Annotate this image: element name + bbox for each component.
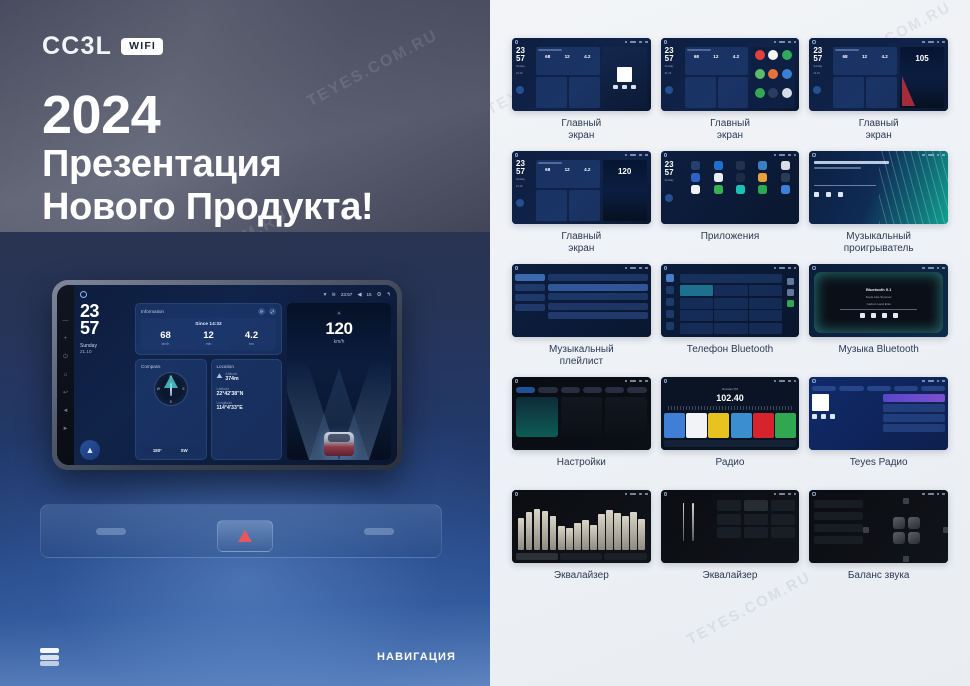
gallery-item[interactable]: Музыкальныйпроигрыватель xyxy=(809,151,948,255)
thumbnail-equalizer-alt[interactable] xyxy=(661,490,800,563)
head-unit-screen[interactable]: ▾ ≋ 23:57 ◀ 15 ⚙ ↰ 23 xyxy=(74,285,397,465)
gallery-caption: Радио xyxy=(716,457,745,481)
hw-home-icon[interactable]: ⌂ xyxy=(62,372,69,379)
headline-line-2: Нового Продукта! xyxy=(42,186,373,229)
compass-dial: N S E W xyxy=(154,372,188,406)
headline-year: 2024 xyxy=(42,88,373,143)
vent-knob-left xyxy=(96,528,126,535)
gallery-caption: Teyes Радио xyxy=(850,457,908,481)
gallery-item[interactable]: Эквалайзер xyxy=(512,490,651,594)
back-icon[interactable]: ↰ xyxy=(386,292,391,298)
speed-widget[interactable]: ☀ 120 km/h xyxy=(287,303,391,460)
expand-icon[interactable]: ⤢ xyxy=(269,308,276,315)
compass-south: S xyxy=(170,400,172,404)
clock-weekday: Sunday xyxy=(80,343,130,350)
compass-direction: SW xyxy=(171,448,198,453)
hero-footer: НАВИГАЦИЯ xyxy=(0,628,490,686)
compass-heading: 180° xyxy=(144,448,171,453)
bt-track-artist: Carbon Land Ents xyxy=(867,302,891,306)
next-icon[interactable] xyxy=(893,313,898,318)
refresh-icon[interactable]: ⟳ xyxy=(258,308,265,315)
status-time: 23:57 xyxy=(341,292,353,297)
thumbnail-home-road-alt[interactable]: 2357Sunday21.10 68124.2 120 xyxy=(512,151,651,224)
car-interior-photo: — + ⏻ ⌂ ↩ ◄ ► ▾ ≋ xyxy=(0,232,490,686)
hazard-button[interactable] xyxy=(217,520,273,552)
road-visualization xyxy=(287,350,391,460)
screenshot-gallery: TEYES.COM.RU TEYES.COM.RU TEYES.COM.RU 2… xyxy=(490,0,970,686)
gear-icon[interactable]: ⚙ xyxy=(377,292,382,298)
thumbnail-radio[interactable]: Russian FM 102.40 xyxy=(661,377,800,450)
hw-minus-icon[interactable]: — xyxy=(62,318,69,325)
gallery-item[interactable]: Teyes Радио xyxy=(809,377,948,481)
hardware-button-rail[interactable]: — + ⏻ ⌂ ↩ ◄ ► xyxy=(57,285,74,465)
hw-power-icon[interactable]: ⏻ xyxy=(62,354,69,361)
location-widget[interactable]: Location ⛰ Altitude 374m xyxy=(211,359,283,460)
vent-knob-right xyxy=(364,528,394,535)
gallery-item[interactable]: Russian FM 102.40 Радио xyxy=(661,377,800,481)
gallery-caption: Настройки xyxy=(557,457,606,481)
compass-title: Compass xyxy=(141,364,201,369)
information-widget[interactable]: Information ⟳ ⤢ Since 14:32 xyxy=(135,303,282,355)
gallery-item[interactable]: Музыкальныйплейлист xyxy=(512,264,651,368)
headlight-icon: ☀ xyxy=(337,311,341,317)
gallery-caption: Эквалайзер xyxy=(554,570,609,594)
altitude-value: 374m xyxy=(225,376,238,383)
status-volume: 15 xyxy=(367,292,372,297)
gallery-item[interactable]: 2357Sunday21.10 68124.2 Главныйэкран xyxy=(661,38,800,142)
gallery-caption: Главныйэкран xyxy=(859,118,899,142)
thumbnail-settings[interactable] xyxy=(512,377,651,450)
speed-unit: km/h xyxy=(287,339,391,345)
compass-east: E xyxy=(182,387,184,391)
thumbnail-music-player[interactable] xyxy=(809,151,948,224)
layers-icon xyxy=(40,648,59,666)
hazard-triangle-icon xyxy=(238,530,252,542)
thumbnail-home-media[interactable]: 2357Sunday21.10 68124.2 xyxy=(512,38,651,111)
signal-icon: ≋ xyxy=(331,292,336,298)
hw-back-icon[interactable]: ↩ xyxy=(62,390,69,397)
clock-date: 21.10 xyxy=(80,349,130,355)
hw-next-track-icon[interactable]: ► xyxy=(62,426,69,433)
gallery-item[interactable]: Баланс звука xyxy=(809,490,948,594)
information-title: Information xyxy=(141,309,164,314)
thumbnail-home-road[interactable]: 2357Sunday21.10 68124.2 105 xyxy=(809,38,948,111)
metric-unit: km/h xyxy=(144,342,187,346)
hero-panel: TEYES.COM.RU TEYES.COM.RU TEYES.COM.RU C… xyxy=(0,0,490,686)
gallery-item[interactable]: 2357Sunday21.10 68124.2 105 Главныйэкран xyxy=(809,38,948,142)
metric-unit: km xyxy=(230,342,273,346)
bt-version-label: Bluetooth 5.1 xyxy=(866,287,891,292)
compass-north: N xyxy=(170,375,172,379)
navigation-arrow-icon[interactable]: ▲ xyxy=(80,440,100,460)
thumbnail-teyes-radio[interactable] xyxy=(809,377,948,450)
car-3d-model xyxy=(324,432,354,456)
gallery-item[interactable]: Настройки xyxy=(512,377,651,481)
presentation-slide: TEYES.COM.RU TEYES.COM.RU TEYES.COM.RU C… xyxy=(0,0,970,686)
thumbnail-sound-balance[interactable] xyxy=(809,490,948,563)
thumb-speed-value: 120 xyxy=(618,167,631,176)
compass-widget[interactable]: Compass N S E W xyxy=(135,359,207,460)
gallery-item[interactable]: Телефон Bluetooth xyxy=(661,264,800,368)
metric-value: 12 xyxy=(187,331,230,341)
product-logo: CC3L WIFI xyxy=(42,34,163,59)
stop-icon[interactable] xyxy=(882,313,887,318)
gallery-caption: Главныйэкран xyxy=(710,118,750,142)
gallery-item[interactable]: 2357Sunday21.10 68124.2 120 Главныйэкран xyxy=(512,151,651,255)
headline-line-1: Презентация xyxy=(42,143,373,186)
metric-value: 4.2 xyxy=(230,331,273,341)
volume-icon[interactable]: ◀ xyxy=(357,292,361,298)
thumb-speed-value: 105 xyxy=(915,54,928,63)
radio-band: Russian FM xyxy=(664,387,797,391)
thumbnail-bluetooth-phone[interactable] xyxy=(661,264,800,337)
metric-unit: min xyxy=(187,342,230,346)
hw-plus-icon[interactable]: + xyxy=(62,336,69,343)
logo-wifi-badge: WIFI xyxy=(121,38,163,55)
longitude-value: 114°4'33"E xyxy=(217,405,277,412)
latitude-value: 22°42'38"N xyxy=(217,391,277,398)
gallery-caption: Телефон Bluetooth xyxy=(687,344,774,368)
thumbnail-bluetooth-music[interactable]: Bluetooth 5.1 Feels Like Summer Carbon L… xyxy=(809,264,948,337)
gallery-grid: 2357Sunday21.10 68124.2 Главныйэкран 235… xyxy=(490,0,970,594)
headline-block: 2024 Презентация Нового Продукта! xyxy=(42,88,373,228)
thumbnail-apps[interactable]: 2357Sunday xyxy=(661,151,800,224)
gallery-caption: Приложения xyxy=(701,231,760,255)
mountain-icon: ⛰ xyxy=(217,373,223,381)
home-icon[interactable] xyxy=(80,291,87,298)
radio-frequency: 102.40 xyxy=(664,394,797,403)
gallery-item[interactable]: Bluetooth 5.1 Feels Like Summer Carbon L… xyxy=(809,264,948,368)
gallery-caption: Музыка Bluetooth xyxy=(838,344,918,368)
thumbnail-music-playlist[interactable] xyxy=(512,264,651,337)
location-title: Location xyxy=(217,364,277,369)
footer-label: НАВИГАЦИЯ xyxy=(377,651,456,663)
gallery-caption: Музыкальныйпроигрыватель xyxy=(844,231,914,255)
head-unit-device: — + ⏻ ⌂ ↩ ◄ ► ▾ ≋ xyxy=(52,280,402,470)
gallery-caption: Баланс звука xyxy=(848,570,910,594)
play-icon[interactable] xyxy=(871,313,876,318)
hw-prev-track-icon[interactable]: ◄ xyxy=(62,408,69,415)
compass-west: W xyxy=(157,387,160,391)
gallery-caption: Эквалайзер xyxy=(703,570,758,594)
metric-time: 12 min xyxy=(187,331,230,346)
gallery-item[interactable]: 2357Sunday Приложения xyxy=(661,151,800,255)
logo-model: CC3L xyxy=(42,34,112,59)
gallery-caption: Музыкальныйплейлист xyxy=(549,344,614,368)
gallery-caption: Главныйэкран xyxy=(561,231,601,255)
thumbnail-home-apps[interactable]: 2357Sunday21.10 68124.2 xyxy=(661,38,800,111)
speed-value: 120 xyxy=(287,319,391,339)
clock-minutes: 57 xyxy=(80,320,130,337)
status-bar: ▾ ≋ 23:57 ◀ 15 ⚙ ↰ xyxy=(80,290,391,299)
gallery-item[interactable]: Эквалайзер xyxy=(661,490,800,594)
metric-distance: 4.2 km xyxy=(230,331,273,346)
wifi-icon: ▾ xyxy=(324,292,327,298)
clock-widget: 23 57 Sunday 21.10 ▲ xyxy=(80,303,130,460)
information-since: Since 14:32 xyxy=(144,322,273,327)
metric-value: 68 xyxy=(144,331,187,341)
bt-track-title: Feels Like Summer xyxy=(866,295,892,299)
prev-icon[interactable] xyxy=(860,313,865,318)
metric-speed: 68 km/h xyxy=(144,331,187,346)
gallery-caption: Главныйэкран xyxy=(561,118,601,142)
gallery-item[interactable]: 2357Sunday21.10 68124.2 Главныйэкран xyxy=(512,38,651,142)
thumbnail-equalizer[interactable] xyxy=(512,490,651,563)
